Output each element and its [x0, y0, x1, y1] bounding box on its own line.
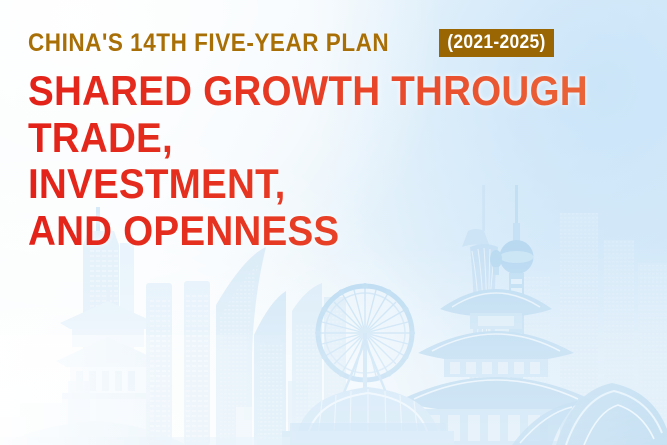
poster-canvas: CHINA'S 14TH FIVE-YEAR PLAN (2021-2025) … — [0, 0, 667, 445]
headline-line-2: TRADE, — [28, 116, 589, 163]
headline-line-4: AND OPENNESS — [28, 209, 589, 256]
page-title: SHARED GROWTH THROUGH TRADE, INVESTMENT,… — [28, 69, 638, 255]
year-range-badge: (2021-2025) — [439, 29, 554, 57]
poster-text-block: CHINA'S 14TH FIVE-YEAR PLAN (2021-2025) … — [28, 27, 638, 255]
kicker-label: CHINA'S 14TH FIVE-YEAR PLAN — [28, 29, 389, 58]
headline-line-3: INVESTMENT, — [28, 162, 589, 209]
kicker-row: CHINA'S 14TH FIVE-YEAR PLAN (2021-2025) — [28, 27, 638, 59]
headline-line-1: SHARED GROWTH THROUGH — [28, 69, 589, 116]
